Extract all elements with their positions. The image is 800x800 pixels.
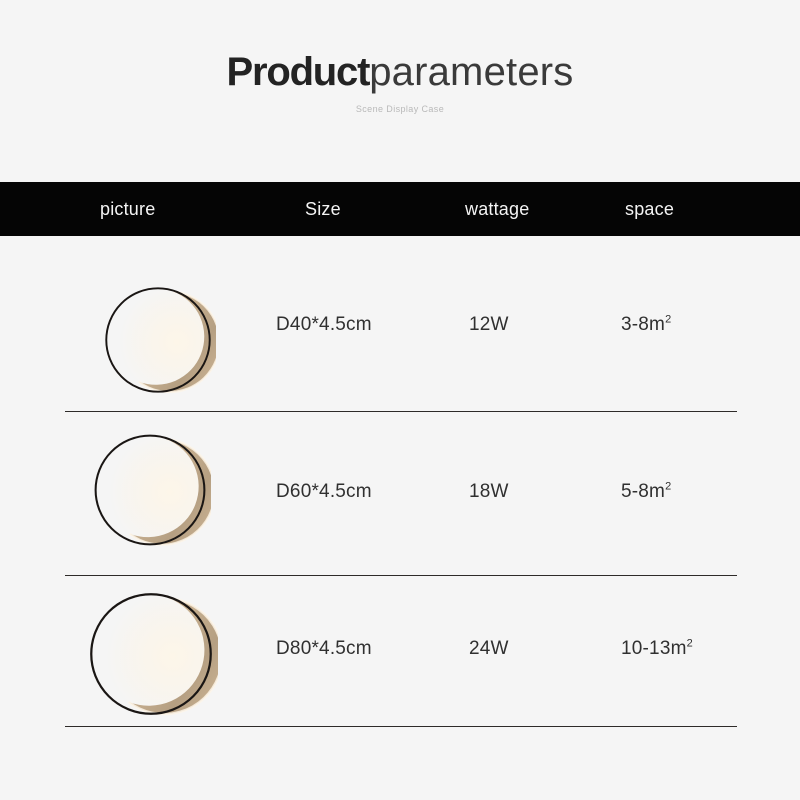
table-body: D40*4.5cm 12W 3-8m2	[0, 236, 800, 727]
cell-space-value: 5-8m	[621, 481, 665, 502]
crescent-moon-lamp-svg	[84, 587, 218, 721]
column-header-wattage: wattage	[465, 182, 529, 236]
cell-space: 3-8m2	[621, 314, 671, 336]
crescent-moon-lamp-icon	[100, 282, 216, 398]
cell-space-unit: 2	[665, 314, 671, 326]
crescent-moon-lamp-svg	[89, 429, 211, 551]
cell-wattage: 12W	[469, 314, 509, 336]
page-header: Productparameters Scene Display Case	[0, 0, 800, 114]
cell-space-unit: 2	[687, 638, 693, 650]
cell-wattage: 18W	[469, 481, 509, 503]
crescent-moon-lamp-icon	[84, 587, 218, 721]
table-header-row: picture Size wattage space	[0, 182, 800, 236]
cell-space-value: 10-13m	[621, 638, 687, 659]
row-divider	[65, 726, 737, 727]
cell-space: 10-13m2	[621, 638, 693, 660]
column-header-space: space	[625, 182, 674, 236]
page-title: Productparameters	[0, 52, 800, 92]
page-title-bold: Product	[226, 50, 369, 94]
cell-size: D80*4.5cm	[276, 638, 372, 660]
table-row: D40*4.5cm 12W 3-8m2	[0, 236, 800, 412]
cell-space-unit: 2	[665, 481, 671, 493]
product-parameters-table: picture Size wattage space	[0, 182, 800, 727]
table-row: D80*4.5cm 24W 10-13m2	[0, 576, 800, 727]
column-header-picture: picture	[100, 182, 155, 236]
table-row: D60*4.5cm 18W 5-8m2	[0, 412, 800, 576]
column-header-size: Size	[305, 182, 341, 236]
crescent-moon-lamp-icon	[89, 429, 211, 551]
cell-space-value: 3-8m	[621, 314, 665, 335]
cell-size: D60*4.5cm	[276, 481, 372, 503]
page-title-light: parameters	[369, 50, 573, 94]
page-subtitle: Scene Display Case	[0, 104, 800, 114]
cell-wattage: 24W	[469, 638, 509, 660]
crescent-moon-lamp-svg	[100, 282, 216, 398]
cell-size: D40*4.5cm	[276, 314, 372, 336]
cell-space: 5-8m2	[621, 481, 671, 503]
